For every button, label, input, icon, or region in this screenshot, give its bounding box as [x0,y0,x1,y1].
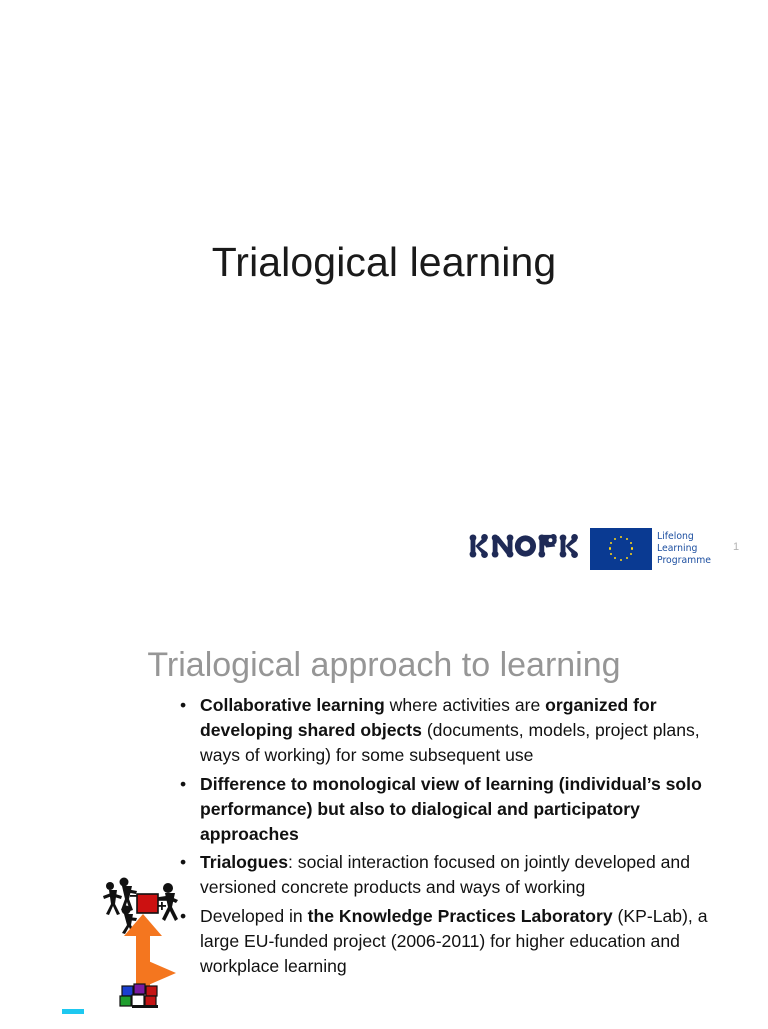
bullet-item-developed-in-kp-lab: •Developed in the Knowledge Practices La… [176,904,738,980]
bullet-list: •Collaborative learning where activities… [176,693,738,982]
slide-1: Trialogical learning [0,0,768,588]
llp-line-1: Lifelong [657,531,711,543]
cyan-accent-bar [62,1009,84,1014]
bullet-marker-icon: • [180,850,186,875]
llp-line-3: Programme [657,555,711,567]
bullet-marker-icon: • [180,904,186,929]
eu-flag-icon [590,528,652,570]
bullet-marker-icon: • [180,772,186,797]
knork-logo [468,533,580,559]
logo-strip: Lifelong Learning Programme [462,528,762,574]
slide-1-title: Trialogical learning [0,239,768,286]
bullet-item-difference-to-monological: •Difference to monological view of learn… [176,772,738,848]
bullet-text: Trialogues: social interaction focused o… [200,852,690,897]
llp-wordmark: Lifelong Learning Programme [657,531,711,567]
slide-2-title: Trialogical approach to learning [0,646,768,685]
page-number: 1 [733,541,739,553]
slide-2: Trialogical approach to learning •Collab… [0,588,768,1024]
bullet-item-collaborative-learning: •Collaborative learning where activities… [176,693,738,769]
bullet-item-trialogues: •Trialogues: social interaction focused … [176,850,738,900]
bullet-text: Developed in the Knowledge Practices Lab… [200,906,708,976]
llp-line-2: Learning [657,543,711,555]
bullet-text: Collaborative learning where activities … [200,695,700,765]
bullet-marker-icon: • [180,693,186,718]
eu-stars [608,536,634,562]
slide-deck-page: Trialogical learning [0,0,768,1024]
lifelong-learning-programme-logo: Lifelong Learning Programme [590,528,708,570]
bullet-text: Difference to monological view of learni… [200,774,702,844]
